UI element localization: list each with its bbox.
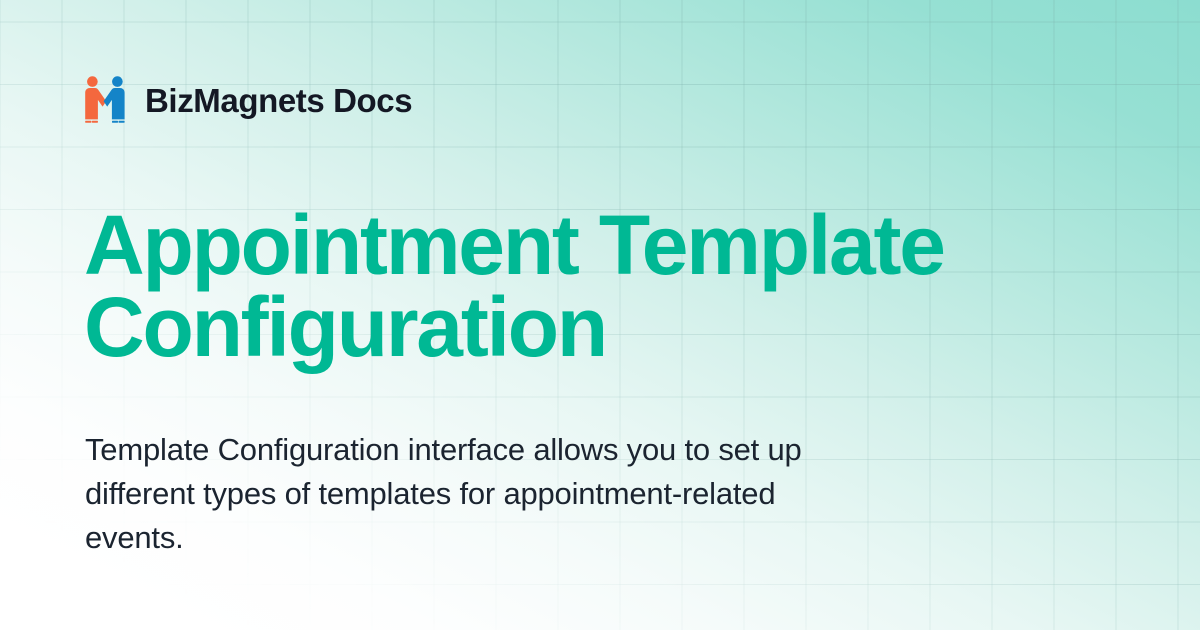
- bizmagnets-people-m-logo-icon: [83, 76, 127, 124]
- page-title: Appointment Template Configuration: [84, 204, 1154, 369]
- banner-content: BizMagnets Docs Appointment Template Con…: [0, 0, 1200, 630]
- page-description: Template Configuration interface allows …: [85, 428, 875, 560]
- og-banner-card: BizMagnets Docs Appointment Template Con…: [0, 0, 1200, 630]
- brand-name: BizMagnets Docs: [145, 84, 412, 117]
- brand-lockup: BizMagnets Docs: [83, 76, 412, 124]
